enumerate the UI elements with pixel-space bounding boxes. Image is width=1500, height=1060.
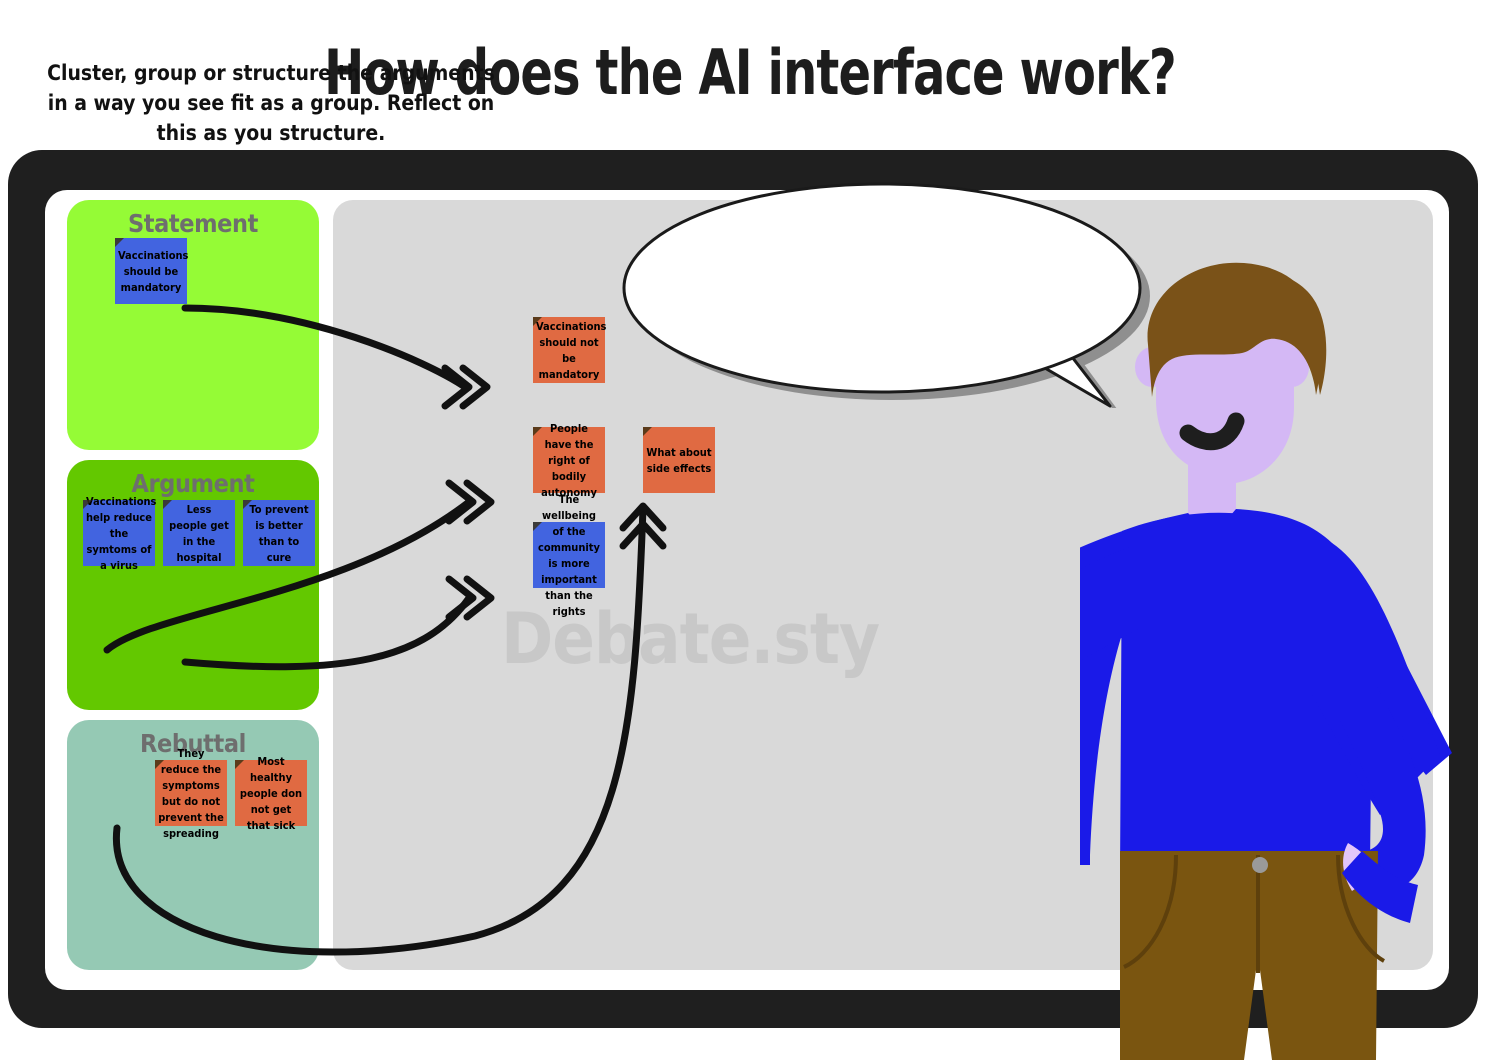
canvas-note-4[interactable]: The wellbeing of the community is more i… [533, 522, 605, 588]
pants-button [1252, 857, 1268, 873]
panel-rebuttal[interactable]: Rebuttal They reduce the symptoms but do… [67, 720, 319, 970]
panel-statement[interactable]: Statement Vaccinations should be mandato… [67, 200, 319, 450]
canvas-note-2[interactable]: People have the right of bodily autonomy [533, 427, 605, 493]
panel-argument-title: Argument [67, 460, 319, 498]
sticky-note-text: Most healthy people don not get that sic… [238, 754, 304, 834]
sticky-note-text: Vaccinations should not be mandatory [536, 319, 602, 383]
sticky-note-statement-1[interactable]: Vaccinations should be mandatory [115, 238, 187, 304]
sticky-note-argument-2[interactable]: Less people get in the hospital [163, 500, 235, 566]
sticky-note-text: Vaccinations help reduce the symtoms of … [86, 494, 152, 574]
sticky-note-text: Vaccinations should be mandatory [118, 248, 184, 296]
canvas-note-1[interactable]: Vaccinations should not be mandatory [533, 317, 605, 383]
sticky-note-text: People have the right of bodily autonomy [536, 421, 602, 501]
canvas-note-3[interactable]: What about side effects [643, 427, 715, 493]
panel-argument[interactable]: Argument Vaccinations help reduce the sy… [67, 460, 319, 710]
sticky-note-argument-1[interactable]: Vaccinations help reduce the symtoms of … [83, 500, 155, 566]
sticky-note-rebuttal-2[interactable]: Most healthy people don not get that sic… [235, 760, 307, 826]
sticky-note-rebuttal-1[interactable]: They reduce the symptoms but do not prev… [155, 760, 227, 826]
sticky-note-text: The wellbeing of the community is more i… [536, 492, 602, 620]
speech-bubble [620, 168, 1160, 408]
sticky-note-text: Less people get in the hospital [166, 502, 232, 566]
sticky-note-text: What about side effects [646, 445, 712, 477]
sticky-note-argument-3[interactable]: To prevent is better than to cure [243, 500, 315, 566]
speech-bubble-text: Cluster, group or structure the argument… [38, 58, 504, 148]
speech-bubble-body [624, 184, 1140, 406]
sticky-note-text: To prevent is better than to cure [246, 502, 312, 566]
panel-statement-title: Statement [67, 200, 319, 238]
sticky-note-text: They reduce the symptoms but do not prev… [158, 746, 224, 842]
